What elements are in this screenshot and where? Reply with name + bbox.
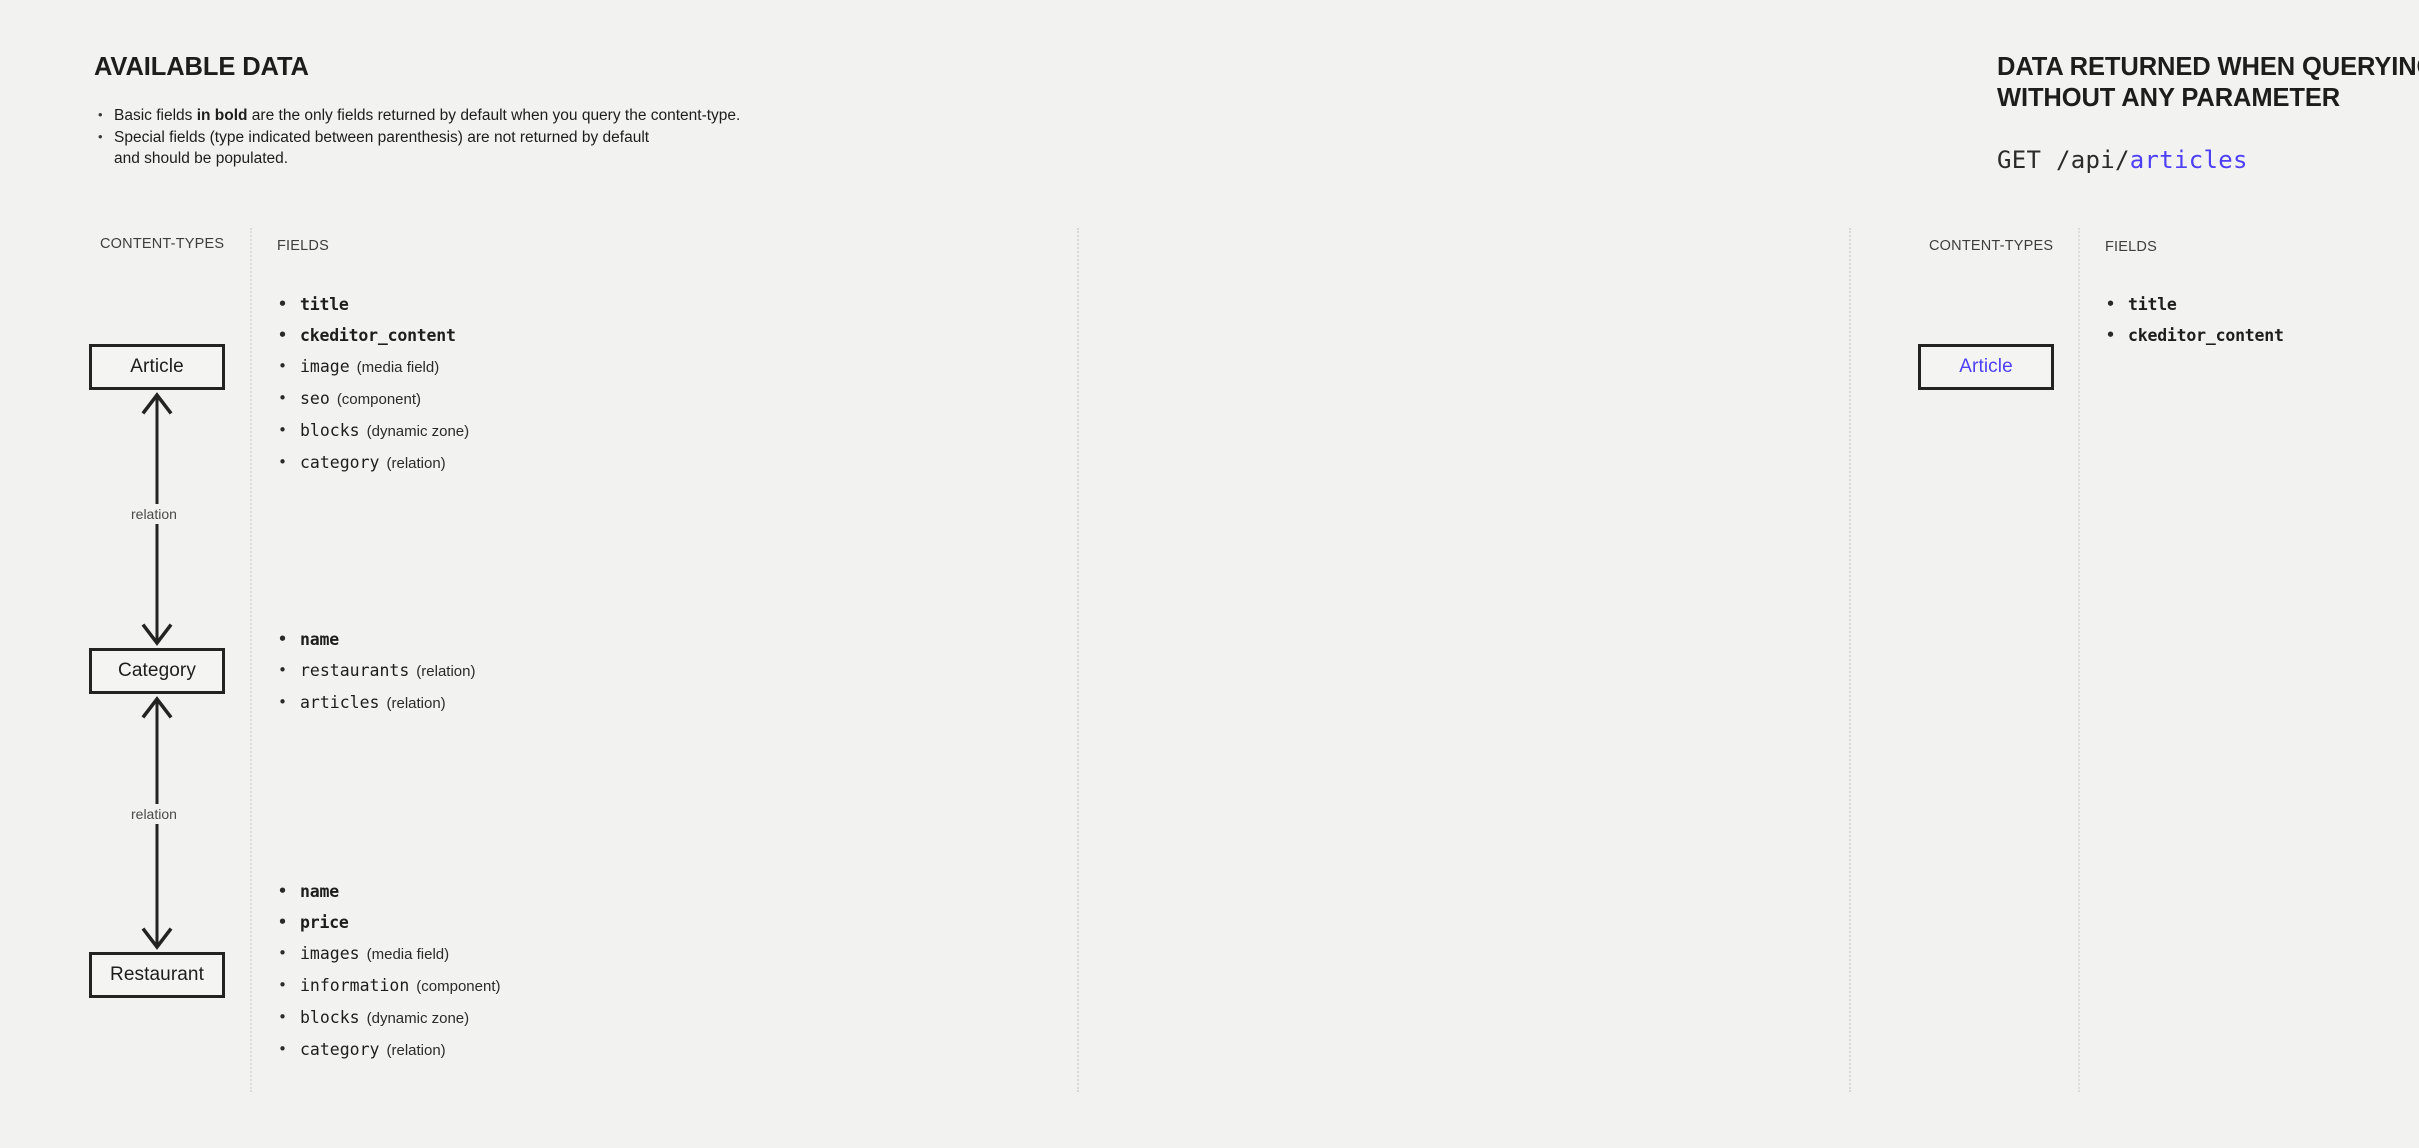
field-type: (relation) [416, 663, 475, 680]
field-item: category(relation) [274, 1034, 501, 1066]
field-item: name [274, 624, 475, 655]
field-item: blocks(dynamic zone) [274, 1002, 501, 1034]
field-item: blocks(dynamic zone) [274, 415, 469, 447]
field-name: articles [300, 693, 379, 712]
field-list-article: title ckeditor_content image(media field… [274, 289, 469, 479]
field-item: price [274, 907, 501, 938]
field-item: information(component) [274, 970, 501, 1002]
field-item: seo(component) [274, 383, 469, 415]
panel-1-label-fields: FIELDS [277, 238, 329, 254]
field-type: (media field) [357, 359, 440, 376]
field-name: image [300, 357, 350, 376]
panel-query-populate: DATA RETURNED WHEN QUERYING ARTICLESAND … [1850, 0, 2419, 1148]
relation-label-article-category: relation [126, 504, 182, 524]
field-item: articles(relation) [274, 687, 475, 719]
field-name: information [300, 976, 409, 995]
field-item: category(relation) [274, 447, 469, 479]
field-list-category: name restaurants(relation) articles(rela… [274, 624, 475, 719]
field-name: seo [300, 389, 330, 408]
entity-box-restaurant[interactable]: Restaurant [89, 952, 225, 998]
field-name: images [300, 944, 360, 963]
field-item: ckeditor_content [274, 320, 469, 351]
field-list-restaurant: name price images(media field) informati… [274, 876, 501, 1066]
field-name: ckeditor_content [300, 326, 456, 345]
field-type: (component) [416, 978, 500, 995]
panel-1-label-content-types: CONTENT-TYPES [100, 236, 224, 252]
relation-label-category-restaurant: relation [126, 804, 182, 824]
diagram-canvas: AVAILABLE DATA Basic fields in bold are … [0, 0, 2419, 1148]
field-item: images(media field) [274, 938, 501, 970]
field-type: (relation) [386, 1042, 445, 1059]
field-type: (component) [337, 391, 421, 408]
field-name: blocks [300, 421, 360, 440]
field-type: (media field) [367, 946, 450, 963]
note-special-fields: Special fields (type indicated between p… [94, 127, 854, 149]
field-type: (dynamic zone) [367, 1010, 470, 1027]
field-type: (relation) [386, 455, 445, 472]
field-item: restaurants(relation) [274, 655, 475, 687]
field-name: category [300, 1040, 379, 1059]
note-basic-fields-a: Basic fields [114, 107, 197, 124]
note-basic-fields: Basic fields in bold are the only fields… [94, 105, 854, 127]
entity-box-article[interactable]: Article [89, 344, 225, 390]
note-special-fields-cont: and should be populated. [94, 148, 854, 170]
field-item: name [274, 876, 501, 907]
field-name: blocks [300, 1008, 360, 1027]
panel-1-notes: Basic fields in bold are the only fields… [94, 105, 854, 170]
field-type: (relation) [386, 695, 445, 712]
field-item: title [274, 289, 469, 320]
panel-1-inner-divider [250, 228, 252, 1092]
field-name: name [300, 630, 339, 649]
panel-1-heading: AVAILABLE DATA [94, 52, 954, 83]
panel-available-data: AVAILABLE DATA Basic fields in bold are … [0, 0, 1078, 1148]
field-item: image(media field) [274, 351, 469, 383]
field-name: restaurants [300, 661, 409, 680]
panel-query-no-parameter: DATA RETURNED WHEN QUERYING ARTICLESWITH… [1078, 0, 1850, 1148]
field-name: title [300, 295, 349, 314]
field-name: price [300, 913, 349, 932]
note-basic-fields-bold: in bold [197, 107, 248, 124]
entity-box-category[interactable]: Category [89, 648, 225, 694]
field-type: (dynamic zone) [367, 423, 470, 440]
note-basic-fields-c: are the only fields returned by default … [248, 107, 741, 124]
field-name: category [300, 453, 379, 472]
field-name: name [300, 882, 339, 901]
